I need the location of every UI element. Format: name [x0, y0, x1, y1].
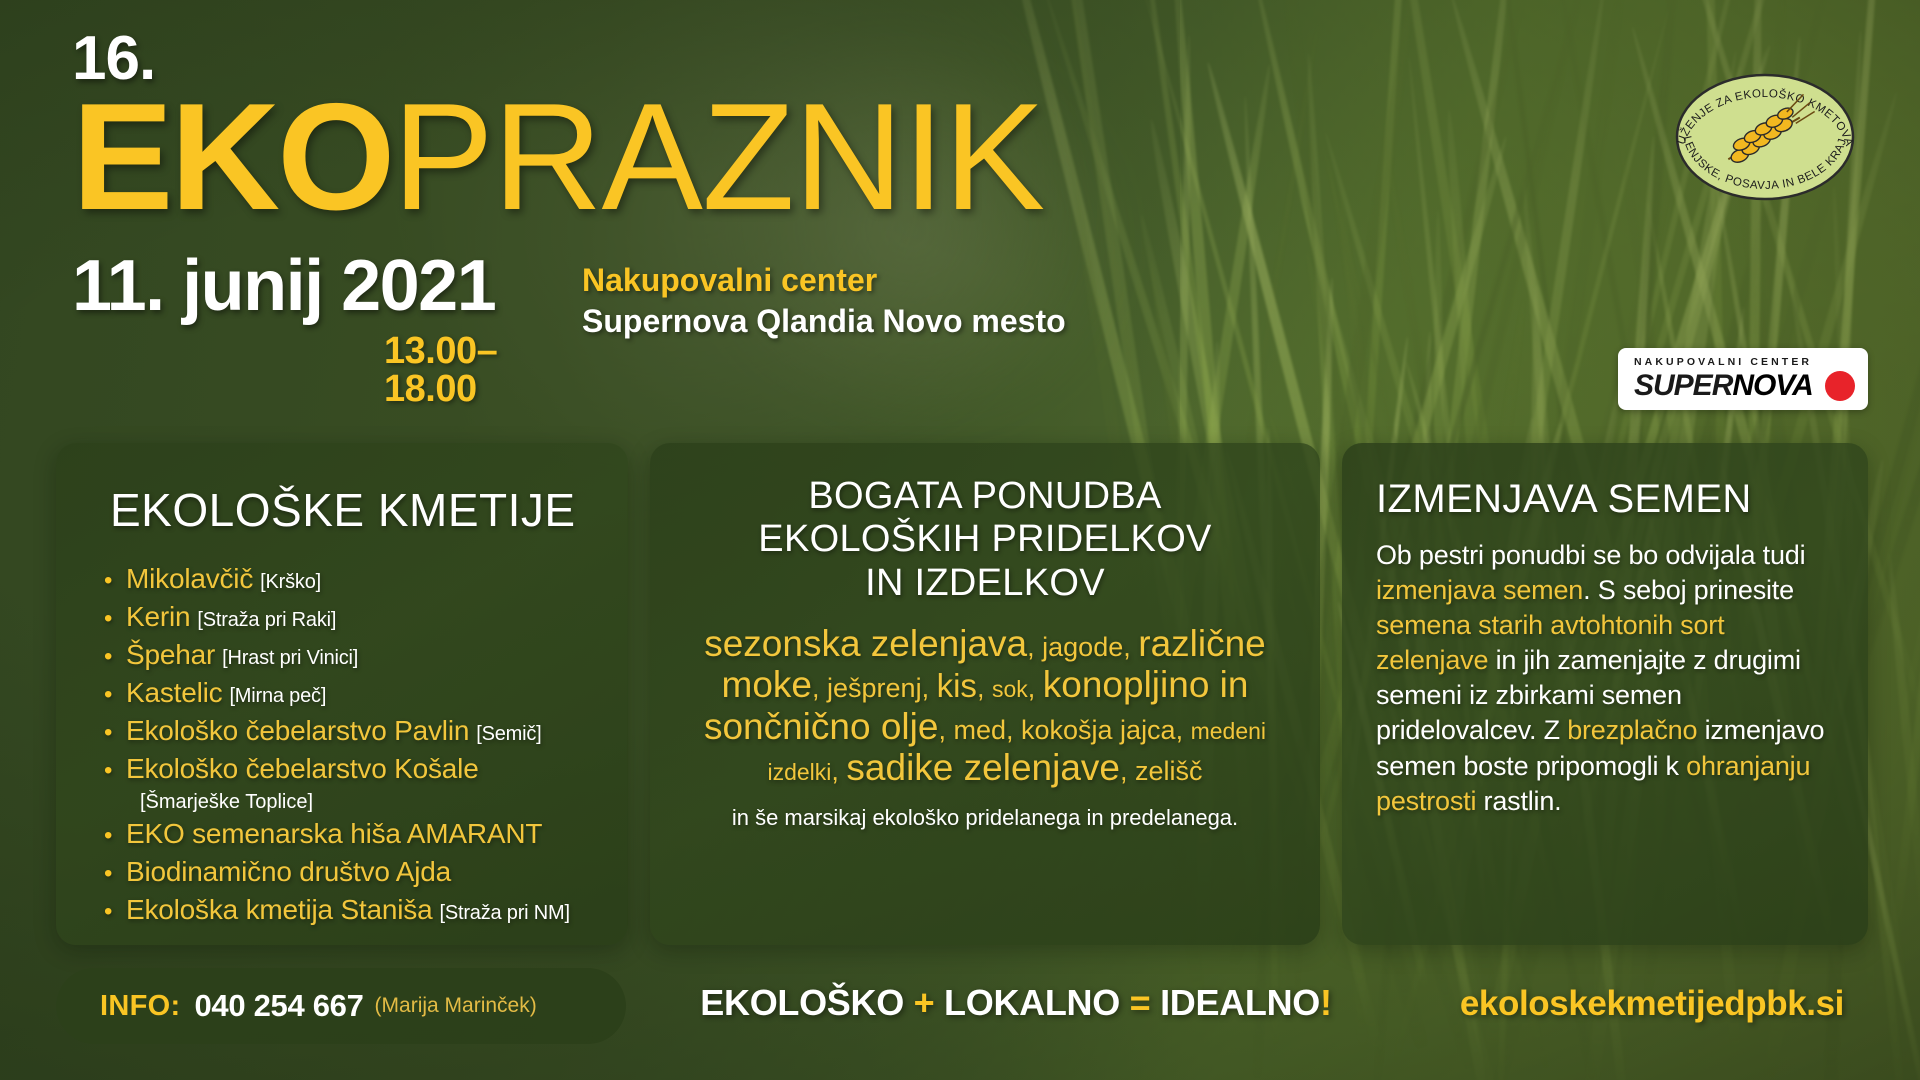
- product-term: ,: [922, 673, 937, 703]
- product-term: kokošja jajca: [1021, 715, 1176, 745]
- farm-entry: EKO semenarska hiša AMARANT: [126, 818, 542, 850]
- bullet-icon: •: [104, 823, 126, 849]
- cards-row: EKOLOŠKE KMETIJE •Mikolavčič[Krško]•Keri…: [56, 443, 1868, 945]
- card-offer: BOGATA PONUDBA EKOLOŠKIH PRIDELKOV IN IZ…: [650, 443, 1320, 945]
- list-item: •Kastelic[Mirna peč]: [104, 677, 594, 709]
- bullet-icon: •: [104, 720, 126, 746]
- info-phone-number[interactable]: 040 254 667: [194, 988, 363, 1024]
- product-term: med: [953, 715, 1006, 745]
- bullet-icon: •: [104, 899, 126, 925]
- list-item: •Ekološka kmetija Staniša[Straža pri NM]: [104, 894, 594, 926]
- farm-location: [Hrast pri Vinici]: [222, 647, 358, 669]
- farm-location: [Straža pri NM]: [439, 902, 569, 924]
- list-item: •EKO semenarska hiša AMARANT: [104, 818, 594, 850]
- list-item: •Biodinamično društvo Ajda: [104, 856, 594, 888]
- farms-list: •Mikolavčič[Krško]•Kerin[Straža pri Raki…: [104, 563, 594, 926]
- header-subrow: 11. junij 2021 13.00–18.00 Nakupovalni c…: [72, 250, 1372, 408]
- product-term: sok: [992, 676, 1028, 702]
- product-term: kis: [937, 667, 977, 704]
- offer-heading-line-3: IN IZDELKOV: [684, 562, 1286, 605]
- slogan-word: EKOLOŠKO: [700, 982, 913, 1023]
- farm-entry: Ekološko čebelarstvo Košale: [126, 753, 479, 785]
- title-eko: EKO: [72, 72, 392, 242]
- supernova-red-dot-icon: [1825, 371, 1855, 401]
- list-item: •Špehar[Hrast pri Vinici]: [104, 639, 594, 671]
- poster-canvas: 16. EKOPRAZNIK 11. junij 2021 13.00–18.0…: [0, 0, 1920, 1080]
- seeds-text: rastlin.: [1476, 786, 1561, 816]
- supernova-logo: NAKUPOVALNI CENTER SUPERNOVA: [1618, 348, 1868, 410]
- list-item: •Kerin[Straža pri Raki]: [104, 601, 594, 633]
- farm-location: [Krško]: [260, 571, 321, 593]
- slogan-word: IDEALNO: [1150, 982, 1320, 1023]
- product-term: ,: [1027, 632, 1042, 662]
- seeds-text: Ob pestri ponudbi se bo odvijala tudi: [1376, 540, 1805, 570]
- seeds-paragraph: Ob pestri ponudbi se bo odvijala tudi iz…: [1376, 538, 1834, 819]
- bullet-icon: •: [104, 682, 126, 708]
- supernova-wordmark: SUPERNOVA: [1634, 369, 1868, 403]
- product-term: sezonska zelenjava: [704, 623, 1027, 664]
- farm-name: Ekološko čebelarstvo Košale: [126, 753, 479, 784]
- farm-name: EKO semenarska hiša AMARANT: [126, 818, 542, 849]
- bullet-icon: •: [104, 568, 126, 594]
- product-term: ,: [1176, 715, 1191, 745]
- product-term: ,: [1120, 756, 1135, 786]
- farm-entry: Špehar[Hrast pri Vinici]: [126, 639, 358, 671]
- farm-entry: Kastelic[Mirna peč]: [126, 677, 326, 709]
- offer-heading: BOGATA PONUDBA EKOLOŠKIH PRIDELKOV IN IZ…: [684, 475, 1286, 605]
- poster-footer: INFO: 040 254 667 (Marija Marinček) EKOL…: [56, 968, 1868, 1050]
- list-item: •Ekološko čebelarstvo Košale: [104, 753, 594, 785]
- product-term: ,: [977, 673, 992, 703]
- product-term: sadike zelenjave: [846, 747, 1120, 788]
- farm-location: [Šmarješke Toplice]: [140, 791, 594, 814]
- venue-line-2: Supernova Qlandia Novo mesto: [582, 301, 1066, 342]
- info-contact-pill: INFO: 040 254 667 (Marija Marinček): [56, 968, 626, 1044]
- farm-name: Mikolavčič: [126, 563, 253, 594]
- list-item: •Ekološko čebelarstvo Pavlin[Semič]: [104, 715, 594, 747]
- farm-location: [Semič]: [476, 723, 541, 745]
- farm-entry: Mikolavčič[Krško]: [126, 563, 321, 595]
- venue-block: Nakupovalni center Supernova Qlandia Nov…: [582, 250, 1066, 342]
- title-praznik: PRAZNIK: [392, 72, 1044, 242]
- farm-entry: Ekološka kmetija Staniša[Straža pri NM]: [126, 894, 570, 926]
- farm-name: Kerin: [126, 601, 190, 632]
- card-seed-exchange: IZMENJAVA SEMEN Ob pestri ponudbi se bo …: [1342, 443, 1868, 945]
- event-time: 13.00–18.00: [384, 332, 582, 408]
- bullet-icon: •: [104, 758, 126, 784]
- card-eco-farms: EKOLOŠKE KMETIJE •Mikolavčič[Krško]•Keri…: [56, 443, 628, 945]
- seeds-text: . S seboj prinesite: [1583, 575, 1794, 605]
- info-label: INFO:: [100, 990, 180, 1023]
- supernova-word-nova: NOVA: [1732, 369, 1812, 403]
- bullet-icon: •: [104, 644, 126, 670]
- page-title: EKOPRAZNIK: [72, 88, 1372, 228]
- footer-website-link[interactable]: ekoloskekmetijedpbk.si: [1460, 984, 1844, 1024]
- offer-heading-line-1: BOGATA PONUDBA: [684, 475, 1286, 518]
- supernova-tagline: NAKUPOVALNI CENTER: [1634, 356, 1868, 368]
- farm-name: Biodinamično društvo Ajda: [126, 856, 451, 887]
- bullet-icon: •: [104, 861, 126, 887]
- seeds-highlight: izmenjava semen: [1376, 575, 1583, 605]
- farm-location: [Mirna peč]: [229, 685, 326, 707]
- bullet-icon: •: [104, 606, 126, 632]
- offer-product-list: sezonska zelenjava, jagode, različne mok…: [684, 623, 1286, 789]
- product-term: zelišč: [1135, 756, 1203, 786]
- farm-location: [Straža pri Raki]: [197, 609, 336, 631]
- farm-name: Ekološka kmetija Staniša: [126, 894, 432, 925]
- event-date: 11. junij 2021: [72, 250, 582, 322]
- poster-header: 16. EKOPRAZNIK 11. junij 2021 13.00–18.0…: [72, 28, 1372, 408]
- slogan-operator: =: [1130, 982, 1151, 1023]
- slogan-word: LOKALNO: [934, 982, 1129, 1023]
- farms-heading: EKOLOŠKE KMETIJE: [110, 483, 594, 537]
- list-item: •Mikolavčič[Krško]: [104, 563, 594, 595]
- info-contact-person: (Marija Marinček): [375, 994, 537, 1018]
- product-term: ,: [938, 715, 953, 745]
- product-term: ,: [1123, 632, 1138, 662]
- farm-name: Kastelic: [126, 677, 222, 708]
- venue-line-1: Nakupovalni center: [582, 260, 1066, 301]
- product-term: jagode: [1042, 632, 1123, 662]
- farm-entry: Biodinamično društvo Ajda: [126, 856, 451, 888]
- farm-name: Ekološko čebelarstvo Pavlin: [126, 715, 469, 746]
- product-term: ,: [831, 756, 846, 786]
- farm-entry: Kerin[Straža pri Raki]: [126, 601, 336, 633]
- offer-heading-line-2: EKOLOŠKIH PRIDELKOV: [684, 518, 1286, 561]
- footer-slogan: EKOLOŠKO + LOKALNO = IDEALNO!: [656, 982, 1376, 1024]
- association-logo: ZDRUŽENJE ZA EKOLOŠKO KMETOVANJE DOLENJS…: [1662, 62, 1868, 212]
- offer-footnote: in še marsikaj ekološko pridelanega in p…: [684, 805, 1286, 832]
- product-term: ,: [1028, 673, 1043, 703]
- seeds-heading: IZMENJAVA SEMEN: [1376, 477, 1834, 522]
- slogan-operator: !: [1320, 982, 1332, 1023]
- farm-name: Špehar: [126, 639, 215, 670]
- product-term: ,: [1006, 715, 1021, 745]
- slogan-operator: +: [914, 982, 935, 1023]
- date-column: 11. junij 2021 13.00–18.00: [72, 250, 582, 408]
- product-term: ,: [812, 673, 827, 703]
- seeds-highlight: brezplačno: [1567, 715, 1697, 745]
- supernova-word-super: SUPER: [1634, 369, 1732, 403]
- farm-entry: Ekološko čebelarstvo Pavlin[Semič]: [126, 715, 542, 747]
- product-term: ješprenj: [827, 673, 922, 703]
